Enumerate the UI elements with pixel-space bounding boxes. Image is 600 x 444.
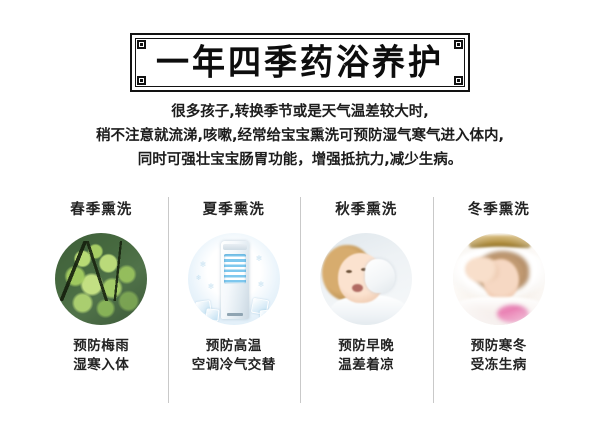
greek-key-corner-top-left-icon [137, 40, 146, 49]
title-plaque: 一年四季药浴养护 [130, 33, 470, 92]
air-conditioner-top [223, 244, 247, 250]
season-caption-winter: 预防寒冬 受冻生病 [471, 337, 527, 375]
season-caption-autumn-line-1: 预防早晚 [338, 337, 394, 356]
intro-line-2: 稍不注意就流涕,咳嗽,经常给宝宝熏洗可预防湿气寒气进入体内, [50, 124, 550, 148]
season-caption-summer: 预防高温 空调冷气交替 [192, 337, 276, 375]
season-photo-winter [453, 233, 545, 325]
season-caption-spring: 预防梅雨 湿寒入体 [73, 337, 129, 375]
season-column-winter: 冬季熏洗 预防寒冬 受冻生病 [433, 196, 566, 375]
season-caption-winter-line-2: 受冻生病 [471, 356, 527, 375]
season-photo-spring [55, 233, 147, 325]
greek-key-corner-top-right-icon [454, 40, 463, 49]
ice-cube-icon [189, 310, 202, 322]
greek-key-corner-bottom-right-icon [454, 76, 463, 85]
season-caption-summer-line-1: 预防高温 [192, 337, 276, 356]
season-title-spring: 春季熏洗 [70, 198, 132, 219]
intro-paragraph: 很多孩子,转换季节或是天气温差较大时, 稍不注意就流涕,咳嗽,经常给宝宝熏洗可预… [50, 100, 550, 172]
season-column-summer: 夏季熏洗 ❄ ❄ ❄ ❄ ❄ 预防高温 空调冷气交替 [168, 196, 301, 375]
ice-cube-icon [205, 308, 219, 321]
air-conditioner-panel [227, 313, 243, 316]
snowflake-icon: ❄ [258, 281, 265, 289]
season-title-autumn: 秋季熏洗 [335, 198, 397, 219]
season-photo-summer: ❄ ❄ ❄ ❄ ❄ [188, 233, 280, 325]
season-caption-autumn: 预防早晚 温差着凉 [338, 337, 394, 375]
season-column-autumn: 秋季熏洗 预防早晚 温差着凉 [300, 196, 433, 375]
season-caption-spring-line-1: 预防梅雨 [73, 337, 129, 356]
season-caption-winter-line-1: 预防寒冬 [471, 337, 527, 356]
snowflake-icon: ❄ [208, 283, 215, 291]
seasons-row: 春季熏洗 预防梅雨 湿寒入体 夏季熏洗 ❄ ❄ ❄ ❄ ❄ 预防 [35, 196, 565, 375]
air-conditioner-icon [221, 241, 249, 319]
season-photo-autumn [320, 233, 412, 325]
season-caption-summer-line-2: 空调冷气交替 [192, 356, 276, 375]
greek-key-corner-bottom-left-icon [137, 76, 146, 85]
season-column-spring: 春季熏洗 预防梅雨 湿寒入体 [35, 196, 168, 375]
tissue-icon [365, 259, 395, 293]
page-title: 一年四季药浴养护 [156, 45, 444, 80]
season-title-summer: 夏季熏洗 [203, 198, 265, 219]
snowflake-icon: ❄ [196, 275, 202, 282]
ice-cube-icon [259, 309, 272, 321]
intro-line-1: 很多孩子,转换季节或是天气温差较大时, [50, 100, 550, 124]
snowflake-icon: ❄ [200, 261, 207, 269]
photo-vignette [453, 233, 545, 325]
title-plaque-inner-border: 一年四季药浴养护 [135, 38, 465, 87]
snowflake-icon: ❄ [256, 255, 263, 263]
season-caption-autumn-line-2: 温差着凉 [338, 356, 394, 375]
season-caption-spring-line-2: 湿寒入体 [73, 356, 129, 375]
season-title-winter: 冬季熏洗 [468, 198, 530, 219]
air-conditioner-vents [224, 254, 246, 284]
intro-line-3: 同时可强壮宝宝肠胃功能，增强抵抗力,减少生病。 [50, 148, 550, 172]
